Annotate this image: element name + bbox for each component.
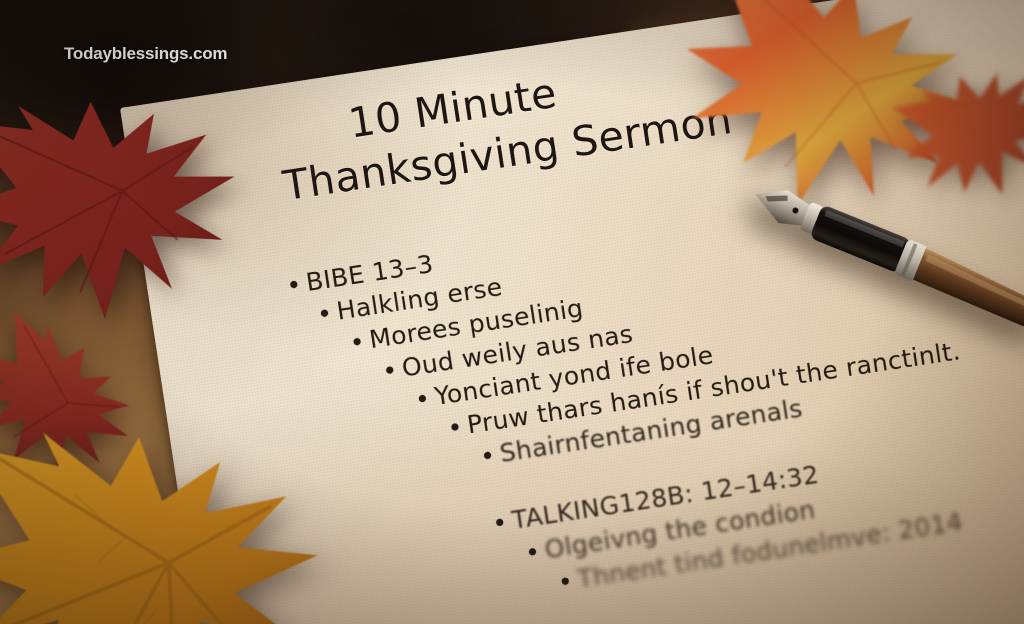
bullet-dot-icon bbox=[386, 366, 394, 374]
bullet-dot-icon bbox=[496, 518, 504, 526]
bullet-dot-icon bbox=[353, 338, 361, 346]
bullet-dot-icon bbox=[529, 548, 537, 556]
bullet-dot-icon bbox=[484, 451, 492, 459]
bullet-dot-icon bbox=[451, 423, 459, 431]
maple-leaf-golden-icon bbox=[0, 389, 396, 624]
thanksgiving-sermon-photo: 10 Minute Thanksgiving Sermon BIBE 13–3 … bbox=[0, 0, 1024, 624]
site-watermark: Todayblessings.com bbox=[64, 44, 227, 64]
bullet-dot-icon bbox=[418, 395, 426, 403]
bullet-dot-icon bbox=[321, 309, 329, 317]
bullet-dot-icon bbox=[561, 577, 569, 585]
